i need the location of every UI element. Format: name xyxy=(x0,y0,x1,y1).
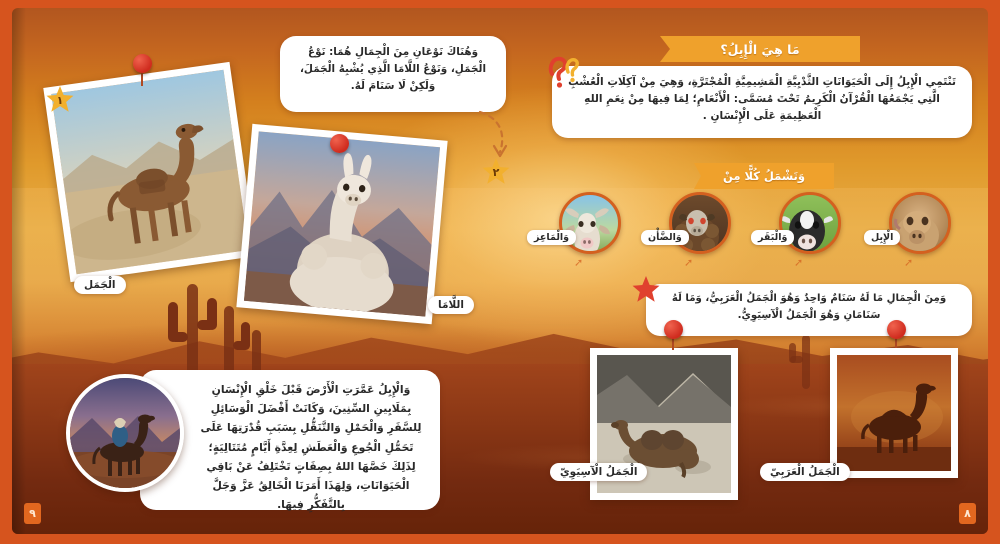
caption-camel: الْجَمَل xyxy=(74,276,126,294)
pin-asian-camel xyxy=(664,320,683,339)
cactus-arm xyxy=(207,298,217,330)
medallion-label-sheep: وَالضَّأْن xyxy=(641,230,689,245)
medallion-label-goats: وَالْمَاعِز xyxy=(527,230,576,245)
question-mark-doodle xyxy=(546,52,580,94)
spread-inner: مَا هِيَ الْإِبِلُ؟ تَنْتَمِي الْإِبِلُ … xyxy=(12,8,988,534)
page-number-left: ٩ xyxy=(24,503,41,524)
cactus-trunk xyxy=(802,335,810,389)
chevron-accent-icon: ➚ xyxy=(574,256,583,269)
star-badge-number: ٢ xyxy=(493,167,500,178)
star-badge-1: ١ xyxy=(46,86,74,114)
camel-types-card: وَمِنَ الْجِمَالِ مَا لَهُ سَنَامٌ وَاحِ… xyxy=(646,284,972,336)
chevron-accent-icon: ➚ xyxy=(794,256,803,269)
camel-desert-photo xyxy=(51,70,249,274)
left-bottom-card: وَالْإِبِلُ عَمَّرَتِ الْأَرْضَ قَبْلَ خ… xyxy=(140,370,440,510)
pin-llama-photo xyxy=(330,134,349,153)
caption-llama: اللَّامَا xyxy=(428,296,474,314)
llama-photo xyxy=(244,131,440,316)
star-badge-number: ١ xyxy=(57,95,64,106)
caravan-photo xyxy=(70,378,180,488)
camel-types-text: وَمِنَ الْجِمَالِ مَا لَهُ سَنَامٌ وَاحِ… xyxy=(646,284,972,331)
includes-banner: وَتَشْمَلُ كُلًّا مِنْ xyxy=(694,163,834,189)
right-intro-text: تَنْتَمِي الْإِبِلُ إِلَى الْحَيَوَانَات… xyxy=(552,66,972,133)
cactus-arm xyxy=(241,322,250,350)
arabian-camel-photo xyxy=(837,355,951,471)
book-spread: مَا هِيَ الْإِبِلُ؟ تَنْتَمِي الْإِبِلُ … xyxy=(0,0,1000,544)
left-intro-card: وَهُنَاكَ نَوْعَانِ مِنَ الْجِمَالِ هُمَ… xyxy=(280,36,506,112)
medallion-label-cattle: وَالْبَقَر xyxy=(751,230,794,245)
caption-asian-camel: الْجَمَلُ الْآسِيَوِيّ xyxy=(550,463,647,481)
medallion-camels[interactable] xyxy=(889,192,951,254)
pin-camel-photo xyxy=(133,54,152,73)
book-spine-shadow xyxy=(12,8,26,534)
cactus-arm xyxy=(789,343,796,363)
chevron-accent-icon: ➚ xyxy=(904,256,913,269)
left-bottom-text: وَالْإِبِلُ عَمَّرَتِ الْأَرْضَ قَبْلَ خ… xyxy=(140,370,440,524)
heading-banner-wrap: مَا هِيَ الْإِبِلُ؟ xyxy=(660,36,860,62)
arabian-camel-polaroid[interactable] xyxy=(830,348,958,478)
medallion-label-camels: الْإِبِل xyxy=(864,230,900,245)
llama-polaroid[interactable] xyxy=(236,124,447,324)
star-badge-accent xyxy=(632,276,660,304)
page-number-right: ٨ xyxy=(959,503,976,524)
star-badge-2: ٢ xyxy=(482,158,510,186)
chevron-accent-icon: ➚ xyxy=(684,256,693,269)
star-icon xyxy=(632,276,660,304)
right-intro-card: تَنْتَمِي الْإِبِلُ إِلَى الْحَيَوَانَات… xyxy=(552,66,972,138)
left-intro-text: وَهُنَاكَ نَوْعَانِ مِنَ الْجِمَالِ هُمَ… xyxy=(280,36,506,103)
camel-polaroid[interactable] xyxy=(43,62,256,282)
cactus-arm xyxy=(168,302,178,342)
caption-arabian-camel: الْجَمَلُ الْعَرَبِيّ xyxy=(760,463,850,481)
caravan-photo-circle[interactable] xyxy=(66,374,184,492)
heading-banner-what-are-camels: مَا هِيَ الْإِبِلُ؟ xyxy=(660,36,860,62)
includes-banner-wrap: وَتَشْمَلُ كُلًّا مِنْ xyxy=(694,163,834,189)
pin-arabian-camel xyxy=(887,320,906,339)
camel-photo xyxy=(892,195,948,251)
